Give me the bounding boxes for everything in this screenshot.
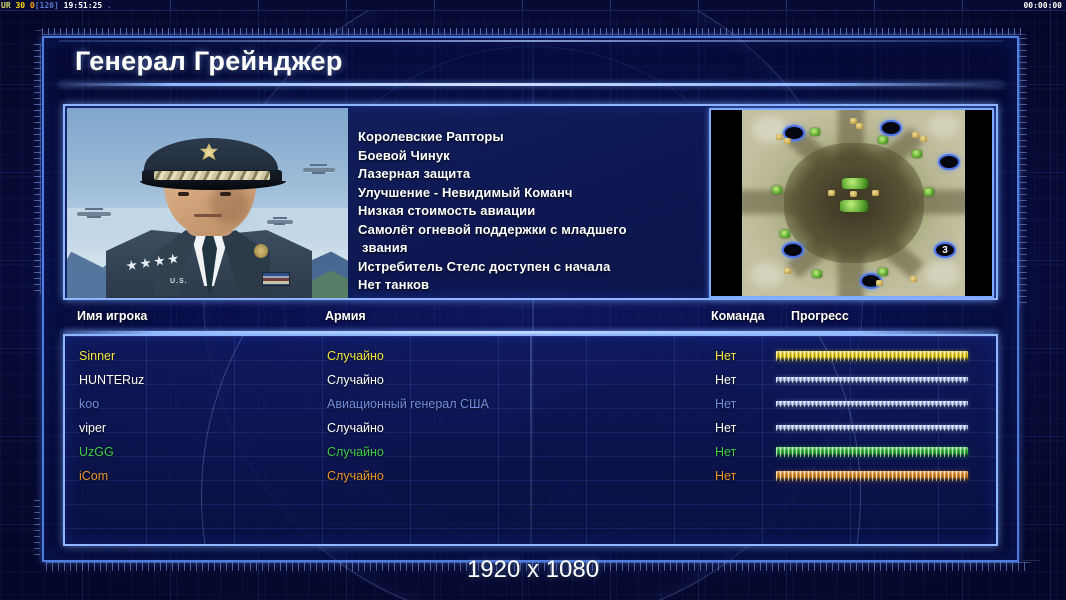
table-row[interactable]: UzGGСлучайноНет bbox=[65, 440, 996, 464]
player-name: iCom bbox=[79, 464, 108, 488]
player-team[interactable]: Нет bbox=[715, 368, 736, 392]
general-figure: U.S. bbox=[114, 144, 304, 298]
map-supply-icon bbox=[912, 150, 922, 158]
progress-bar-track bbox=[776, 392, 968, 416]
status-seg-1: 30 bbox=[11, 1, 30, 10]
map-start-position: 3 bbox=[934, 242, 956, 258]
map-supply-icon bbox=[780, 230, 790, 238]
map-supply-icon bbox=[810, 128, 820, 136]
player-name: koo bbox=[79, 392, 99, 416]
network-status-text: UR 30 0[120] 19:51:25 . bbox=[1, 0, 112, 11]
eye bbox=[178, 192, 189, 196]
map-resource-icon bbox=[910, 276, 917, 282]
player-rows-container: SinnerСлучайноНетHUNTERuzСлучайноНетkooА… bbox=[65, 336, 996, 546]
player-team[interactable]: Нет bbox=[715, 440, 736, 464]
title-underline bbox=[59, 83, 1003, 86]
top-status-bar: UR 30 0[120] 19:51:25 . 00:00:00 bbox=[0, 0, 1066, 11]
progress-bar-fill bbox=[776, 377, 968, 383]
game-lobby-window: Генерал Грейнджер bbox=[42, 36, 1019, 562]
map-start-position bbox=[938, 154, 960, 170]
player-team[interactable]: Нет bbox=[715, 464, 736, 488]
shoulder-insignia bbox=[254, 244, 268, 258]
status-seg-4: 19:51:25 bbox=[64, 1, 103, 10]
ability-item-continuation: звания bbox=[358, 239, 758, 258]
progress-bar-track bbox=[776, 440, 968, 464]
map-patch bbox=[928, 114, 960, 138]
cap-scrambled-eggs bbox=[154, 171, 270, 180]
title-bar: Генерал Грейнджер bbox=[59, 40, 1003, 88]
ability-item: Королевские Рапторы bbox=[358, 128, 758, 147]
map-resource-icon bbox=[856, 123, 863, 129]
ability-item: Улучшение - Невидимый Команч bbox=[358, 184, 758, 203]
map-supply-icon bbox=[812, 270, 822, 278]
map-supply-icon bbox=[878, 136, 888, 144]
ability-item: Низкая стоимость авиации bbox=[358, 202, 758, 221]
column-header-player-name: Имя игрока bbox=[77, 309, 147, 323]
progress-bar-track bbox=[776, 416, 968, 440]
start-position-label: 3 bbox=[936, 244, 954, 256]
map-preview[interactable]: 3 bbox=[709, 108, 994, 298]
progress-bar-fill bbox=[776, 471, 968, 481]
service-ribbon bbox=[262, 272, 290, 286]
map-start-position bbox=[880, 120, 902, 136]
progress-bar-fill bbox=[776, 351, 968, 361]
ability-item: Нет танков bbox=[358, 276, 758, 295]
jet-aircraft-icon bbox=[77, 212, 111, 216]
status-seg-0: UR bbox=[1, 1, 11, 10]
column-header-team: Команда bbox=[711, 309, 765, 323]
player-name: UzGG bbox=[79, 440, 114, 464]
map-supply-icon bbox=[772, 186, 782, 194]
ability-item: Самолёт огневой поддержки с младшего bbox=[358, 221, 758, 240]
start-position-label bbox=[940, 156, 958, 168]
progress-bar-fill bbox=[776, 447, 968, 457]
player-army[interactable]: Случайно bbox=[327, 440, 384, 464]
game-clock: 00:00:00 bbox=[1023, 0, 1062, 11]
general-portrait: U.S. bbox=[67, 108, 348, 298]
status-seg-5: . bbox=[102, 1, 112, 10]
cap-brim bbox=[140, 181, 286, 190]
progress-bar-fill bbox=[776, 425, 968, 431]
progress-bar-track bbox=[776, 464, 968, 488]
player-list-panel: SinnerСлучайноНетHUNTERuzСлучайноНетkooА… bbox=[63, 334, 998, 546]
screen-root: UR 30 0[120] 19:51:25 . 00:00:00 Генерал… bbox=[0, 0, 1066, 600]
eye bbox=[220, 192, 231, 196]
player-army[interactable]: Случайно bbox=[327, 368, 384, 392]
map-start-position bbox=[782, 242, 804, 258]
map-patch bbox=[750, 262, 784, 288]
player-name: viper bbox=[79, 416, 106, 440]
resolution-overlay: 1920 x 1080 bbox=[0, 556, 1066, 584]
player-team[interactable]: Нет bbox=[715, 392, 736, 416]
map-resource-icon bbox=[784, 138, 791, 144]
face-shading bbox=[210, 184, 248, 224]
title-rule-top bbox=[59, 40, 1003, 42]
map-supply-icon bbox=[878, 268, 888, 276]
us-insignia: U.S. bbox=[170, 278, 188, 285]
map-resource-icon bbox=[776, 134, 783, 140]
table-row[interactable]: SinnerСлучайноНет bbox=[65, 344, 996, 368]
map-supply-icon bbox=[924, 188, 934, 196]
ability-item: Боевой Чинук bbox=[358, 147, 758, 166]
start-position-label bbox=[882, 122, 900, 134]
player-list-header: Имя игрока Армия Команда Прогресс bbox=[63, 308, 998, 334]
jet-aircraft-icon bbox=[303, 168, 335, 172]
frame-hairline bbox=[36, 30, 42, 31]
player-name: Sinner bbox=[79, 344, 115, 368]
status-seg-3: [120] bbox=[35, 1, 64, 10]
progress-bar-track bbox=[776, 368, 968, 392]
player-team[interactable]: Нет bbox=[715, 416, 736, 440]
table-row[interactable]: kooАвиационный генерал СШАНет bbox=[65, 392, 996, 416]
map-resource-icon bbox=[784, 268, 791, 274]
column-header-army: Армия bbox=[325, 309, 366, 323]
progress-bar-track bbox=[776, 344, 968, 368]
progress-bar-fill bbox=[776, 401, 968, 407]
table-row[interactable]: viperСлучайноНет bbox=[65, 416, 996, 440]
table-row[interactable]: iComСлучайноНет bbox=[65, 464, 996, 488]
start-position-label bbox=[784, 244, 802, 256]
table-row[interactable]: HUNTERuzСлучайноНет bbox=[65, 368, 996, 392]
map-resource-icon bbox=[920, 136, 927, 142]
player-army[interactable]: Авиационный генерал США bbox=[327, 392, 489, 416]
map-terrain: 3 bbox=[742, 110, 965, 296]
top-status-grid bbox=[0, 0, 1066, 10]
column-header-progress: Прогресс bbox=[791, 309, 849, 323]
ability-item: Лазерная защита bbox=[358, 165, 758, 184]
mouth bbox=[194, 214, 222, 217]
map-scanline bbox=[742, 286, 965, 287]
map-patch bbox=[924, 260, 960, 288]
general-abilities-list: Королевские Рапторы Боевой Чинук Лазерна… bbox=[358, 128, 758, 295]
player-name: HUNTERuz bbox=[79, 368, 144, 392]
player-army[interactable]: Случайно bbox=[327, 344, 384, 368]
general-info-panel: U.S. bbox=[63, 104, 998, 300]
player-army[interactable]: Случайно bbox=[327, 416, 384, 440]
ability-item: Истребитель Стелс доступен с начала bbox=[358, 258, 758, 277]
player-team[interactable]: Нет bbox=[715, 344, 736, 368]
page-title: Генерал Грейнджер bbox=[75, 46, 343, 77]
map-resource-icon bbox=[912, 132, 919, 138]
player-army[interactable]: Случайно bbox=[327, 464, 384, 488]
